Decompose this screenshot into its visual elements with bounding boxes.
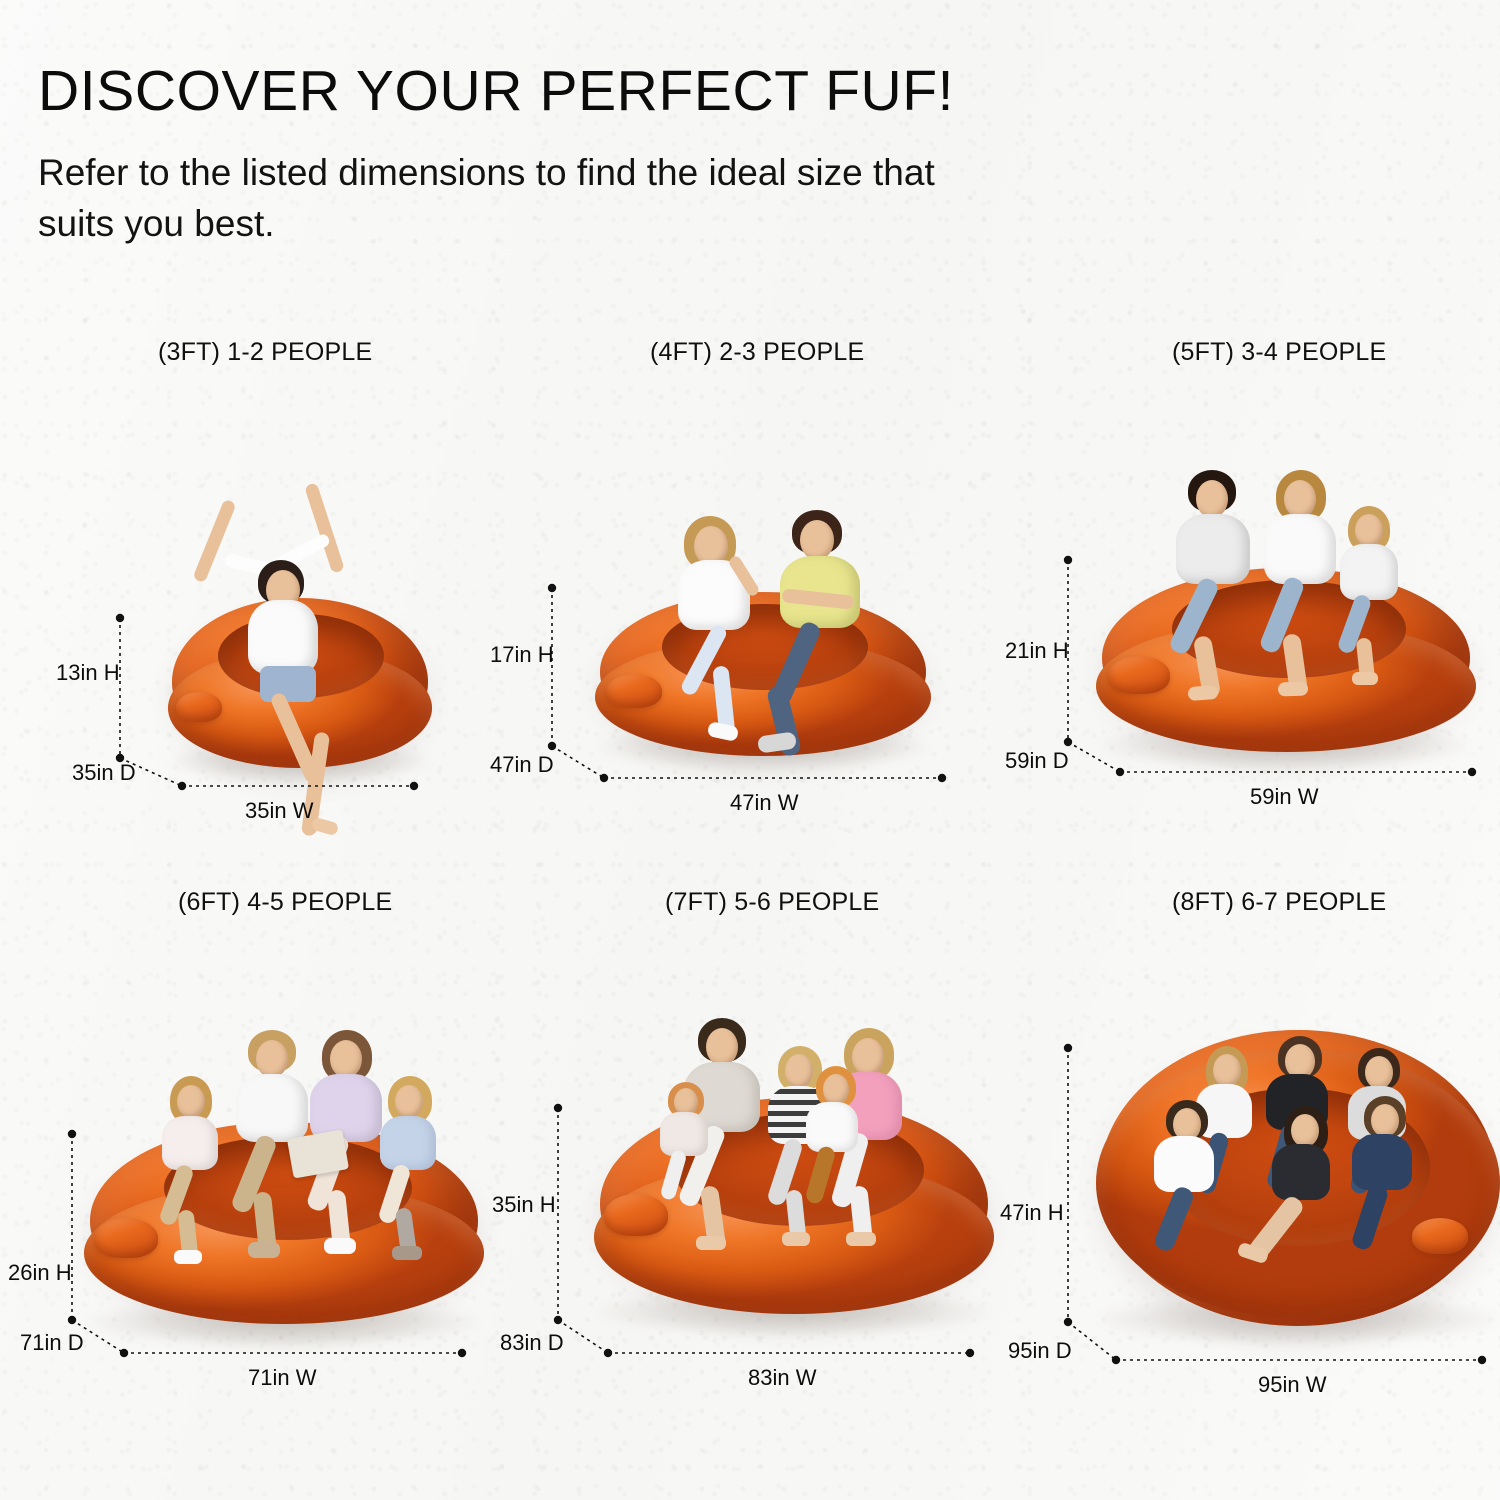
product-stage-6ft: 26in H 71in D 71in W <box>0 870 500 1430</box>
product-cell-8ft: (8FT) 6-7 PEOPLE <box>1000 870 1500 1430</box>
product-cell-5ft: (5FT) 3-4 PEOPLE <box>1000 320 1500 840</box>
dimension-height-8ft: 47in H <box>1000 1200 1064 1226</box>
page-subtitle: Refer to the listed dimensions to find t… <box>38 147 954 249</box>
product-stage-3ft: 13in H 35in D 35in W <box>0 320 500 840</box>
product-stage-4ft: 17in H 47in D 47in W <box>490 320 990 840</box>
dimension-depth-3ft: 35in D <box>72 760 136 786</box>
product-stage-5ft: 21in H 59in D 59in W <box>1000 320 1500 840</box>
product-cell-4ft: (4FT) 2-3 PEOPLE <box>490 320 990 840</box>
product-stage-8ft: 47in H 95in D 95in W <box>1000 870 1500 1430</box>
dimension-depth-8ft: 95in D <box>1008 1338 1072 1364</box>
product-stage-7ft: 35in H 83in D 83in W <box>490 870 1000 1430</box>
dimension-depth-7ft: 83in D <box>500 1330 564 1356</box>
page-subtitle-line-2: suits you best. <box>38 198 954 249</box>
dimension-width-3ft: 35in W <box>245 798 313 824</box>
product-cell-6ft: (6FT) 4-5 PEOPLE <box>0 870 500 1430</box>
dimension-depth-5ft: 59in D <box>1005 748 1069 774</box>
dimension-width-5ft: 59in W <box>1250 784 1318 810</box>
product-cell-7ft: (7FT) 5-6 PEOPLE <box>490 870 1000 1430</box>
dimension-lines-5ft <box>1000 320 1500 840</box>
dimension-height-7ft: 35in H <box>492 1192 556 1218</box>
page-title: DISCOVER YOUR PERFECT FUF! <box>38 62 954 121</box>
dimension-lines-7ft <box>490 870 1000 1430</box>
dimension-depth-4ft: 47in D <box>490 752 554 778</box>
dimension-width-8ft: 95in W <box>1258 1372 1326 1398</box>
dimension-height-3ft: 13in H <box>56 660 120 686</box>
dimension-height-5ft: 21in H <box>1005 638 1069 664</box>
dimension-lines-4ft <box>490 320 990 840</box>
header-block: DISCOVER YOUR PERFECT FUF! Refer to the … <box>38 62 954 249</box>
dimension-width-6ft: 71in W <box>248 1365 316 1391</box>
dimension-height-6ft: 26in H <box>8 1260 72 1286</box>
dimension-depth-6ft: 71in D <box>20 1330 84 1356</box>
infographic-page: DISCOVER YOUR PERFECT FUF! Refer to the … <box>0 0 1500 1500</box>
page-subtitle-line-1: Refer to the listed dimensions to find t… <box>38 147 954 198</box>
product-cell-3ft: (3FT) 1-2 PEOPLE <box>0 320 500 840</box>
dimension-width-7ft: 83in W <box>748 1365 816 1391</box>
dimension-height-4ft: 17in H <box>490 642 554 668</box>
dimension-width-4ft: 47in W <box>730 790 798 816</box>
dimension-lines-8ft <box>1000 870 1500 1430</box>
